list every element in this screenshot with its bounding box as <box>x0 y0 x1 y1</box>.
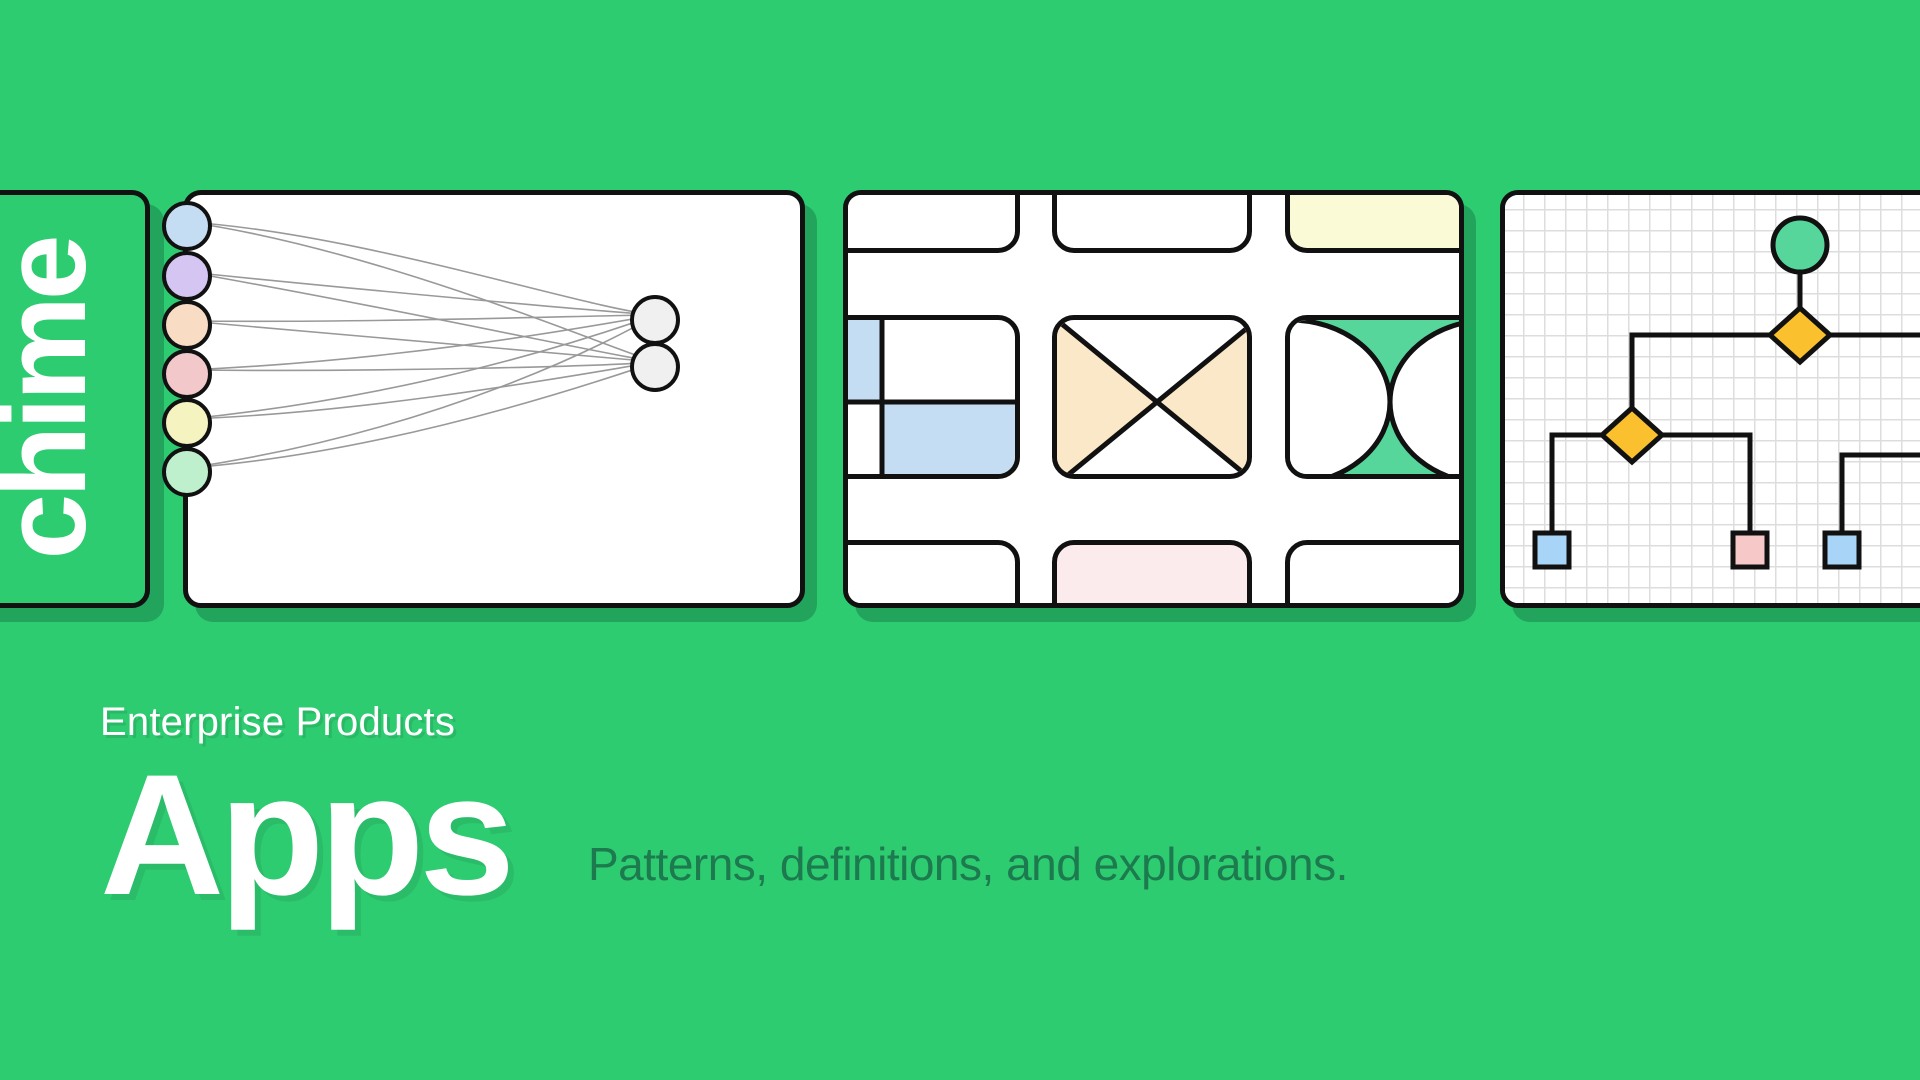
network-source-node[interactable] <box>162 398 212 448</box>
hero-band: chime <box>0 0 1920 640</box>
network-source-node[interactable] <box>162 300 212 350</box>
page-title: Apps <box>100 758 510 913</box>
grid-cell[interactable] <box>1285 190 1464 253</box>
grid-cell[interactable] <box>1285 540 1464 608</box>
network-target-node[interactable] <box>630 295 680 345</box>
opposed-arcs-icon <box>1290 320 1464 479</box>
flowchart-tree-card[interactable] <box>1500 190 1920 608</box>
grid-cell[interactable] <box>1052 315 1252 479</box>
headline-row: Apps Patterns, definitions, and explorat… <box>100 758 1600 913</box>
grid-cell[interactable] <box>1052 540 1252 608</box>
flowchart-node-leaf[interactable] <box>1733 533 1767 567</box>
network-diagram-card[interactable] <box>183 190 805 608</box>
flowchart-node-decision[interactable] <box>1770 308 1830 362</box>
grid-cell[interactable] <box>843 315 1020 479</box>
flowchart-node-root[interactable] <box>1773 218 1827 272</box>
flowchart-node-decision[interactable] <box>1602 408 1662 462</box>
geometric-grid-inner <box>843 190 1464 605</box>
flowchart-node-leaf[interactable] <box>1825 533 1859 567</box>
geometric-grid-card[interactable] <box>843 190 1464 608</box>
grid-cell[interactable] <box>1285 315 1464 479</box>
hero-text-block: Enterprise Products Apps Patterns, defin… <box>100 700 1600 913</box>
eyebrow-label: Enterprise Products <box>100 700 1600 744</box>
bowtie-x-icon <box>1057 320 1252 479</box>
page-subtitle: Patterns, definitions, and explorations. <box>588 837 1348 891</box>
network-edges <box>183 190 805 608</box>
network-source-node[interactable] <box>162 201 212 251</box>
chime-wordmark: chime <box>0 238 104 559</box>
grid-cell[interactable] <box>843 190 1020 253</box>
network-target-node[interactable] <box>630 342 680 392</box>
chime-brand-card[interactable]: chime <box>0 190 150 608</box>
flowchart-node-leaf[interactable] <box>1535 533 1569 567</box>
network-clip <box>183 190 805 608</box>
network-source-node[interactable] <box>162 447 212 497</box>
flowchart-connectors <box>1552 245 1920 550</box>
flowchart-graphic <box>1505 195 1920 603</box>
checker-quads-icon <box>843 320 1020 479</box>
network-source-node[interactable] <box>162 349 212 399</box>
grid-cell[interactable] <box>1052 190 1252 253</box>
network-source-node[interactable] <box>162 251 212 301</box>
grid-cell[interactable] <box>843 540 1020 608</box>
